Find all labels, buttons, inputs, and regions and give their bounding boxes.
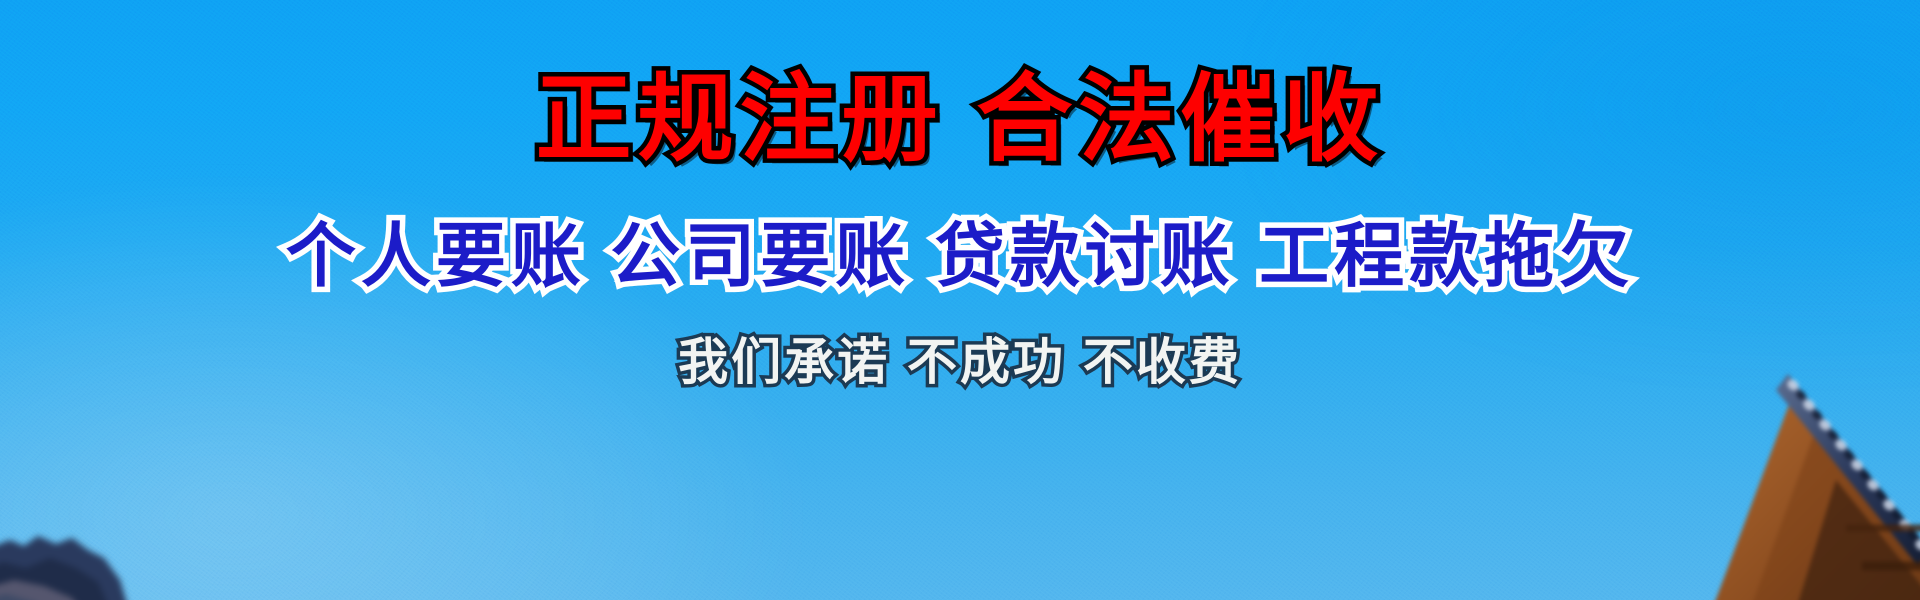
banner-text-layer: 正规注册 合法催收 个人要账 公司要账 贷款讨账 工程款拖欠 我们承诺 不成功 …	[0, 0, 1920, 600]
headline-text: 正规注册 合法催收	[536, 68, 1385, 172]
services-text: 个人要账 公司要账 贷款讨账 工程款拖欠	[286, 218, 1634, 295]
tagline-text: 我们承诺 不成功 不收费	[678, 335, 1242, 390]
promotional-banner: 正规注册 合法催收 个人要账 公司要账 贷款讨账 工程款拖欠 我们承诺 不成功 …	[0, 0, 1920, 600]
